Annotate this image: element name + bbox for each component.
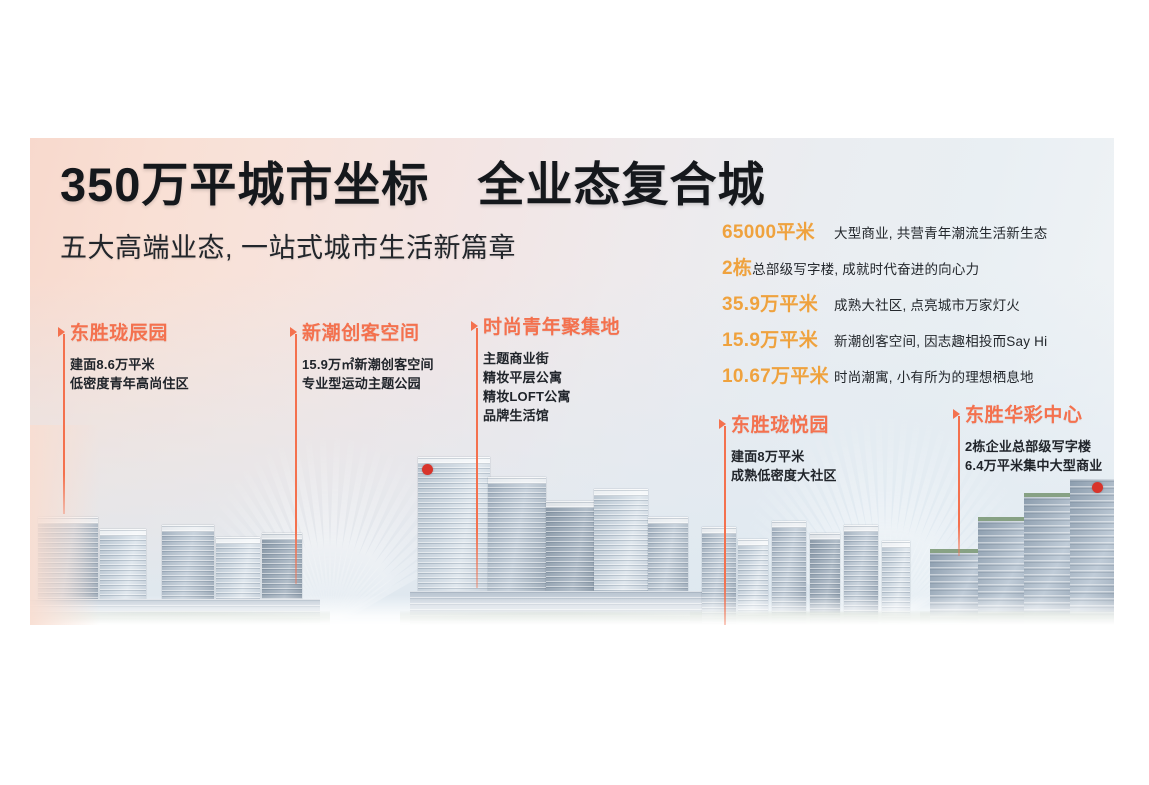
greenery-strip bbox=[690, 609, 940, 625]
callout-header: 时尚青年聚集地 bbox=[471, 312, 620, 339]
callout-line: 6.4万平米集中大型商业 bbox=[965, 456, 1102, 475]
callout-line: 2栋企业总部级写字楼 bbox=[965, 437, 1102, 456]
callout-line: 精妆LOFT公寓 bbox=[483, 387, 620, 406]
stat-desc: 大型商业, 共营青年潮流生活新生态 bbox=[834, 222, 1047, 242]
stat-desc: 成熟大社区, 点亮城市万家灯火 bbox=[834, 294, 1020, 314]
tower-cap bbox=[772, 521, 806, 528]
greenery-strip bbox=[920, 609, 1114, 625]
callout-title: 新潮创客空间 bbox=[302, 318, 420, 345]
tower-cap bbox=[594, 489, 648, 496]
poster-canvas: 350万平城市坐标 全业态复合城 五大高端业态, 一站式城市生活新篇章 6500… bbox=[30, 138, 1114, 625]
triangle-marker-icon bbox=[290, 327, 297, 337]
stat-row: 15.9万平米 新潮创客空间, 因志趣相投而Say Hi bbox=[722, 325, 1047, 352]
callout-title: 东胜珑悦园 bbox=[731, 410, 829, 437]
tower-cap bbox=[810, 533, 840, 540]
callout-line: 主题商业街 bbox=[483, 349, 620, 368]
stat-row: 2栋 总部级写字楼, 成就时代奋进的向心力 bbox=[722, 253, 1047, 280]
callout-dongsheng-longchenyuan: 东胜珑辰园 建面8.6万平米 低密度青年高尚住区 bbox=[58, 318, 189, 393]
callout-title: 东胜珑辰园 bbox=[70, 318, 168, 345]
title-right: 全业态复合城 bbox=[478, 158, 766, 211]
callout-line: 成熟低密度大社区 bbox=[731, 466, 837, 485]
triangle-marker-icon bbox=[58, 327, 65, 337]
stat-desc: 新潮创客空间, 因志趣相投而Say Hi bbox=[834, 330, 1047, 350]
tower-cap bbox=[702, 527, 736, 534]
tower-cap bbox=[882, 541, 910, 548]
callout-dongsheng-huacai: 东胜华彩中心 2栋企业总部级写字楼 6.4万平米集中大型商业 bbox=[953, 400, 1102, 475]
callout-line: 建面8.6万平米 bbox=[70, 355, 189, 374]
triangle-marker-icon bbox=[719, 419, 726, 429]
callout-line: 低密度青年高尚住区 bbox=[70, 374, 189, 393]
callout-lines: 2栋企业总部级写字楼 6.4万平米集中大型商业 bbox=[965, 437, 1102, 475]
callout-shishang-qingnian: 时尚青年聚集地 主题商业街 精妆平层公寓 精妆LOFT公寓 品牌生活馆 bbox=[471, 312, 620, 425]
callout-lines: 主题商业街 精妆平层公寓 精妆LOFT公寓 品牌生活馆 bbox=[483, 349, 620, 425]
stat-value: 2栋 bbox=[722, 253, 752, 280]
rooftop-logo-icon bbox=[1092, 482, 1103, 493]
stat-row: 35.9万平米 成熟大社区, 点亮城市万家灯火 bbox=[722, 289, 1047, 316]
triangle-marker-icon bbox=[471, 321, 478, 331]
building-terrace bbox=[1024, 497, 1076, 625]
stat-value: 15.9万平米 bbox=[722, 325, 830, 352]
callout-header: 新潮创客空间 bbox=[290, 318, 434, 345]
cityscape-illustration bbox=[30, 395, 1114, 625]
tower-cap bbox=[38, 517, 98, 524]
callout-title: 东胜华彩中心 bbox=[965, 400, 1083, 427]
building-terrace bbox=[1070, 479, 1114, 625]
tower-cap bbox=[418, 457, 490, 464]
callout-dongsheng-longyueyuan: 东胜珑悦园 建面8万平米 成熟低密度大社区 bbox=[719, 410, 837, 485]
tower-cap bbox=[738, 539, 768, 546]
greenery-strip bbox=[400, 609, 720, 625]
callout-line: 精妆平层公寓 bbox=[483, 368, 620, 387]
tower-cap bbox=[100, 529, 146, 536]
callout-line: 专业型运动主题公园 bbox=[302, 374, 434, 393]
triangle-marker-icon bbox=[953, 409, 960, 419]
callout-lines: 建面8万平米 成熟低密度大社区 bbox=[731, 447, 837, 485]
tower-cap bbox=[844, 525, 878, 532]
terrace-greenery bbox=[1024, 493, 1076, 497]
title-left: 350万平城市坐标 bbox=[60, 158, 429, 211]
callout-header: 东胜珑辰园 bbox=[58, 318, 189, 345]
callout-lines: 15.9万㎡新潮创客空间 专业型运动主题公园 bbox=[302, 355, 434, 393]
greenery-strip bbox=[30, 609, 330, 625]
callout-line: 15.9万㎡新潮创客空间 bbox=[302, 355, 434, 374]
callout-xinchao-chuangke: 新潮创客空间 15.9万㎡新潮创客空间 专业型运动主题公园 bbox=[290, 318, 434, 393]
tower-cap bbox=[162, 525, 214, 532]
page-title: 350万平城市坐标 全业态复合城 bbox=[60, 160, 766, 209]
stat-value: 65000平米 bbox=[722, 217, 830, 244]
callout-lines: 建面8.6万平米 低密度青年高尚住区 bbox=[70, 355, 189, 393]
callout-line: 品牌生活馆 bbox=[483, 406, 620, 425]
stat-value: 35.9万平米 bbox=[722, 289, 830, 316]
callout-header: 东胜华彩中心 bbox=[953, 400, 1102, 427]
stat-row: 10.67万平米 时尚潮寓, 小有所为的理想栖息地 bbox=[722, 361, 1047, 388]
callout-title: 时尚青年聚集地 bbox=[483, 312, 620, 339]
tower-cap bbox=[488, 477, 546, 484]
stat-desc: 时尚潮寓, 小有所为的理想栖息地 bbox=[834, 366, 1034, 386]
stat-row: 65000平米 大型商业, 共营青年潮流生活新生态 bbox=[722, 217, 1047, 244]
callout-line: 建面8万平米 bbox=[731, 447, 837, 466]
tower-cap bbox=[216, 537, 260, 544]
callout-header: 东胜珑悦园 bbox=[719, 410, 837, 437]
tower-cap bbox=[648, 517, 688, 524]
stat-value: 10.67万平米 bbox=[722, 361, 830, 388]
tower-cap bbox=[546, 501, 594, 508]
stat-desc: 总部级写字楼, 成就时代奋进的向心力 bbox=[752, 258, 979, 278]
statistics-list: 65000平米 大型商业, 共营青年潮流生活新生态 2栋 总部级写字楼, 成就时… bbox=[722, 217, 1047, 397]
page-subtitle: 五大高端业态, 一站式城市生活新篇章 bbox=[60, 226, 766, 265]
headline-block: 350万平城市坐标 全业态复合城 五大高端业态, 一站式城市生活新篇章 bbox=[60, 160, 766, 265]
rooftop-logo-icon bbox=[422, 464, 433, 475]
